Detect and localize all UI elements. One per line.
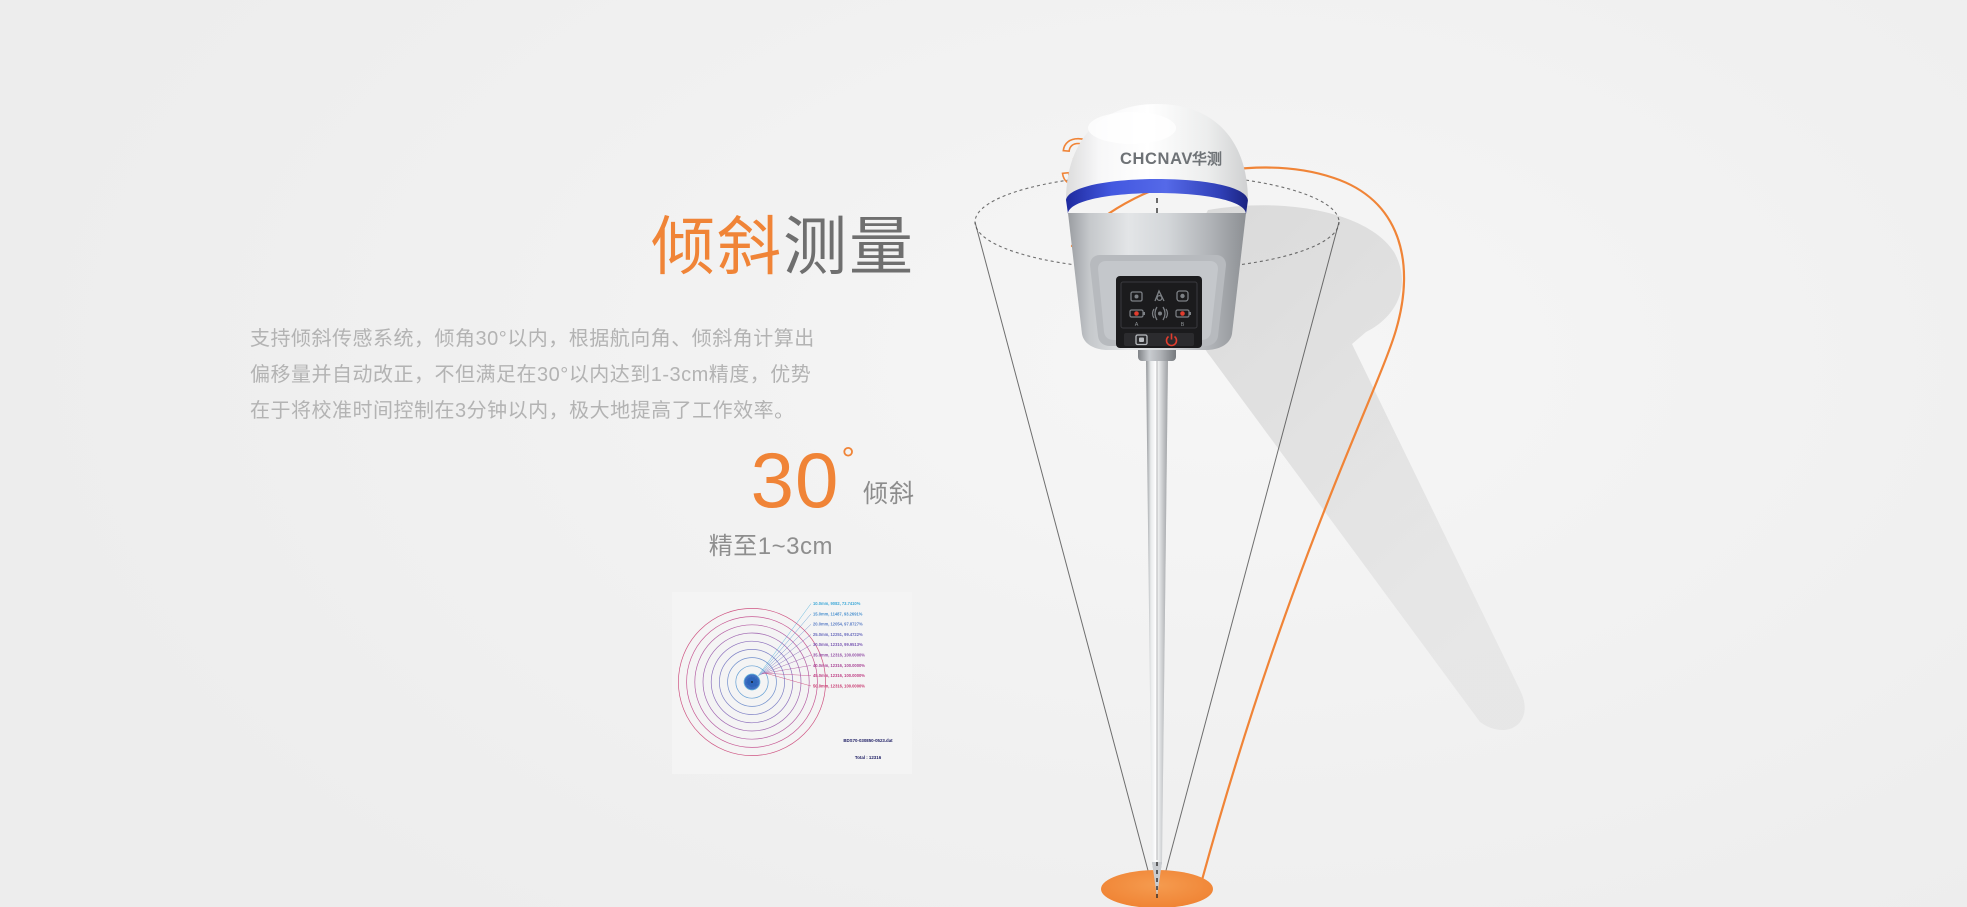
brand-logo: CHCNAV 华测	[1120, 150, 1222, 168]
device-cast-shadow	[1192, 205, 1525, 730]
legend-entry: 45.0mm, 12316, 100.0000%	[813, 673, 865, 678]
tilt-survey-promo-page: 倾斜测量 支持倾斜传感系统，倾角30°以内，根据航向角、倾斜角计算出 偏移量并自…	[0, 0, 1967, 907]
legend-entry: 50.0mm, 12316, 100.0000%	[813, 683, 865, 688]
precision-scatter-plot: 10.0mm, 9082, 73.7410%15.0mm, 11487, 93.…	[672, 592, 912, 774]
legend-entry: 10.0mm, 9082, 73.7410%	[813, 601, 861, 606]
tilt-angle-stat: 30 ° 倾斜 精至1~3cm	[640, 448, 915, 561]
plot-total-count: Total : 12316	[855, 755, 882, 760]
page-title: 倾斜测量	[250, 215, 915, 279]
tilt-angle-value: 30	[751, 448, 840, 514]
plot-filename: BDS70-030850-0523.dat	[843, 738, 893, 743]
legend-entry: 20.0mm, 12054, 97.8727%	[813, 622, 863, 627]
device-illustration: 30	[960, 0, 1967, 907]
survey-pole	[1146, 358, 1168, 893]
button-strip	[1124, 333, 1194, 346]
legend-entry: 40.0mm, 12316, 100.0000%	[813, 663, 865, 668]
svg-text:B: B	[1181, 322, 1185, 328]
gnss-receiver: A B	[1066, 104, 1248, 350]
legend-entries: 10.0mm, 9082, 73.7410%15.0mm, 11487, 93.…	[813, 601, 865, 688]
description-line-1: 支持倾斜传感系统，倾角30°以内，根据航向角、倾斜角计算出	[250, 321, 915, 357]
copy-block: 倾斜测量 支持倾斜传感系统，倾角30°以内，根据航向角、倾斜角计算出 偏移量并自…	[250, 215, 915, 429]
description-line-2: 偏移量并自动改正，不但满足在30°以内达到1-3cm精度，优势	[250, 357, 915, 393]
legend-entry: 35.0mm, 12316, 100.0000%	[813, 653, 865, 658]
legend-entry: 30.0mm, 12310, 99.9513%	[813, 642, 863, 647]
svg-text:CHCNAV: CHCNAV	[1120, 150, 1193, 168]
plot-center-marker	[751, 681, 753, 683]
scatter-plot-svg: 10.0mm, 9082, 73.7410%15.0mm, 11487, 93.…	[672, 592, 912, 774]
page-title-rest: 测量	[783, 211, 915, 283]
tilt-angle-row: 30 ° 倾斜	[640, 448, 915, 514]
legend-entry: 25.0mm, 12251, 99.4722%	[813, 632, 863, 637]
svg-text:A: A	[1135, 322, 1139, 328]
plot-background	[672, 592, 912, 774]
dome-highlight	[1088, 112, 1176, 144]
device-scene: 30	[960, 0, 1967, 907]
description-paragraph: 支持倾斜传感系统，倾角30°以内，根据航向角、倾斜角计算出 偏移量并自动改正，不…	[250, 321, 915, 429]
tilt-accuracy-subtitle: 精至1~3cm	[640, 526, 915, 561]
tilt-angle-label: 倾斜	[863, 474, 915, 510]
degree-symbol-icon: °	[841, 441, 855, 480]
legend-entry: 15.0mm, 11487, 93.2691%	[813, 611, 863, 616]
page-title-accent: 倾斜	[651, 211, 783, 283]
svg-text:华测: 华测	[1192, 150, 1222, 168]
description-line-3: 在于将校准时间控制在3分钟以内，极大地提高了工作效率。	[250, 393, 915, 429]
